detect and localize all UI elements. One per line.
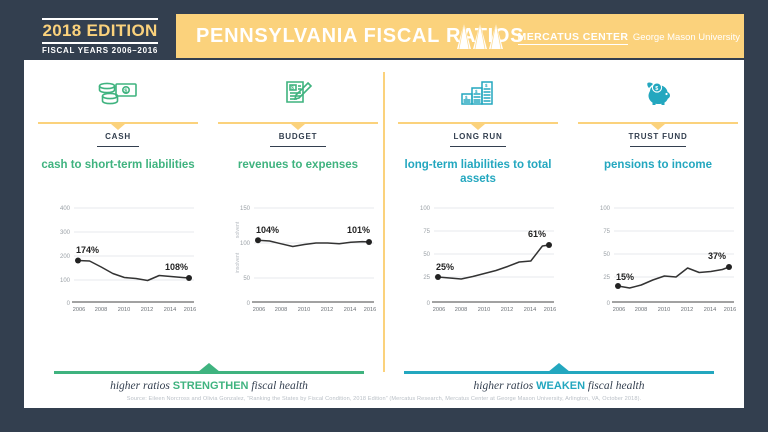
axis-note-insolvent: insolvent [235,252,241,273]
panel-trust-fund: $ TRUST FUND pensions to income 10075 [568,60,748,360]
logo-text: MERCATUS CENTER George Mason University [518,27,740,45]
svg-text:2012: 2012 [321,307,333,313]
panel-subtitle-trust-fund: pensions to income [574,158,742,172]
panel-kicker-cash: CASH [28,132,208,144]
panel-budget: $ BUDGET revenues to expenses 150100 500 [208,60,388,360]
svg-text:2006: 2006 [253,307,265,313]
kicker-underline [450,146,506,147]
svg-text:$: $ [124,89,127,95]
svg-text:61%: 61% [528,229,546,239]
svg-text:101%: 101% [347,225,370,235]
infographic-poster: PENNSYLVANIA FISCAL RATIOS 2018 EDITION … [0,0,768,432]
long-run-bar-buildings-icon: $$$ [388,80,568,112]
chart-long-run: 10075 5025 0 25% 61% 200620082010 201220… [406,200,558,320]
svg-text:50: 50 [423,252,430,258]
svg-text:2016: 2016 [184,307,196,313]
panel-subtitle-cash: cash to short-term liabilities [34,158,202,172]
svg-text:2008: 2008 [455,307,467,313]
svg-text:2006: 2006 [433,307,445,313]
mercatus-mark-icon [455,23,511,49]
svg-text:50: 50 [603,252,610,258]
panel-subtitle-long-run: long-term liabilities to total assets [394,158,562,186]
panel-long-run: $$$ LONG RUN long-term liabilities to to… [388,60,568,360]
legend-prefix: higher ratios [474,380,537,392]
legend-text-strengthen: higher ratios STRENGTHEN fiscal health [54,380,364,392]
svg-text:2014: 2014 [164,307,176,313]
logo-name: MERCATUS CENTER [518,31,629,45]
svg-text:2010: 2010 [658,307,670,313]
legend-prefix: higher ratios [110,380,173,392]
legend-suffix: fiscal health [248,380,307,392]
kicker-underline [270,146,326,147]
badge-subtitle: FISCAL YEARS 2006–2016 [24,46,176,55]
legend-emphasis: WEAKEN [536,380,585,392]
panel-cash: $ CASH cash to short-term liabilities 40… [28,60,208,360]
svg-text:0: 0 [607,301,611,307]
axis-note-solvent: solvent [235,221,241,238]
svg-text:25: 25 [603,275,610,281]
panel-rule [398,122,558,124]
svg-text:2014: 2014 [524,307,536,313]
svg-text:100: 100 [240,241,251,247]
budget-document-pencil-icon: $ [208,80,388,112]
svg-text:2016: 2016 [544,307,556,313]
svg-text:$: $ [291,86,294,92]
svg-text:2012: 2012 [141,307,153,313]
panel-rule [218,122,378,124]
svg-text:2010: 2010 [118,307,130,313]
legend-strengthen: higher ratios STRENGTHEN fiscal health [54,365,364,395]
svg-text:0: 0 [247,301,251,307]
svg-text:0: 0 [427,301,431,307]
panel-rule [578,122,738,124]
svg-text:150: 150 [240,206,251,212]
svg-text:25: 25 [423,275,430,281]
svg-text:2012: 2012 [501,307,513,313]
svg-text:100: 100 [600,206,611,212]
panel-rule [38,122,198,124]
panel-kicker-budget: BUDGET [208,132,388,144]
svg-text:0: 0 [67,301,71,307]
chart-cash: 400300 200100 0 174% 108% 200620082010 2… [46,200,198,320]
piggy-bank-icon: $ [568,80,748,112]
svg-text:100: 100 [420,206,431,212]
svg-text:108%: 108% [165,262,188,272]
svg-text:2006: 2006 [613,307,625,313]
cash-money-icon: $ [28,80,208,112]
svg-text:37%: 37% [708,251,726,261]
svg-text:50: 50 [243,276,250,282]
svg-text:15%: 15% [616,272,634,282]
svg-text:2014: 2014 [704,307,716,313]
logo-university: George Mason University [633,31,740,43]
chart-budget: 150100 500 solvent insolvent 104% 101% 2… [226,200,378,320]
svg-text:2014: 2014 [344,307,356,313]
svg-text:2010: 2010 [298,307,310,313]
svg-text:2010: 2010 [478,307,490,313]
svg-text:100: 100 [60,278,71,284]
svg-text:400: 400 [60,206,71,212]
svg-text:2016: 2016 [364,307,376,313]
legend-suffix: fiscal health [585,380,644,392]
kicker-underline [630,146,686,147]
panel-subtitle-budget: revenues to expenses [214,158,382,172]
svg-text:2016: 2016 [724,307,736,313]
badge-year: 2018 EDITION [24,20,176,41]
header: PENNSYLVANIA FISCAL RATIOS 2018 EDITION … [0,0,768,66]
content-canvas: $ CASH cash to short-term liabilities 40… [24,60,744,408]
svg-text:300: 300 [60,230,71,236]
legend-bar-green [54,371,364,374]
svg-text:75: 75 [423,229,430,235]
svg-text:104%: 104% [256,225,279,235]
svg-text:174%: 174% [76,245,99,255]
source-note: Source: Eileen Norcross and Olivia Gonza… [24,396,744,402]
kicker-underline [97,146,139,147]
panel-kicker-trust-fund: TRUST FUND [568,132,748,144]
badge-rule-bottom [42,42,158,44]
chart-trust-fund: 10075 5025 0 15% 37% 200620082010 201220… [586,200,738,320]
mercatus-logo: MERCATUS CENTER George Mason University [455,22,740,50]
svg-text:75: 75 [603,229,610,235]
panel-kicker-long-run: LONG RUN [388,132,568,144]
svg-text:200: 200 [60,254,71,260]
legend-bar-teal [404,371,714,374]
legend-weaken: higher ratios WEAKEN fiscal health [404,365,714,395]
edition-badge: 2018 EDITION FISCAL YEARS 2006–2016 [24,8,176,60]
svg-text:$: $ [485,83,488,88]
svg-text:$: $ [655,86,658,92]
svg-text:2006: 2006 [73,307,85,313]
svg-text:2008: 2008 [635,307,647,313]
legend-text-weaken: higher ratios WEAKEN fiscal health [404,380,714,392]
svg-text:2008: 2008 [275,307,287,313]
svg-text:2012: 2012 [681,307,693,313]
svg-text:25%: 25% [436,262,454,272]
legend-emphasis: STRENGTHEN [173,380,249,392]
svg-text:2008: 2008 [95,307,107,313]
